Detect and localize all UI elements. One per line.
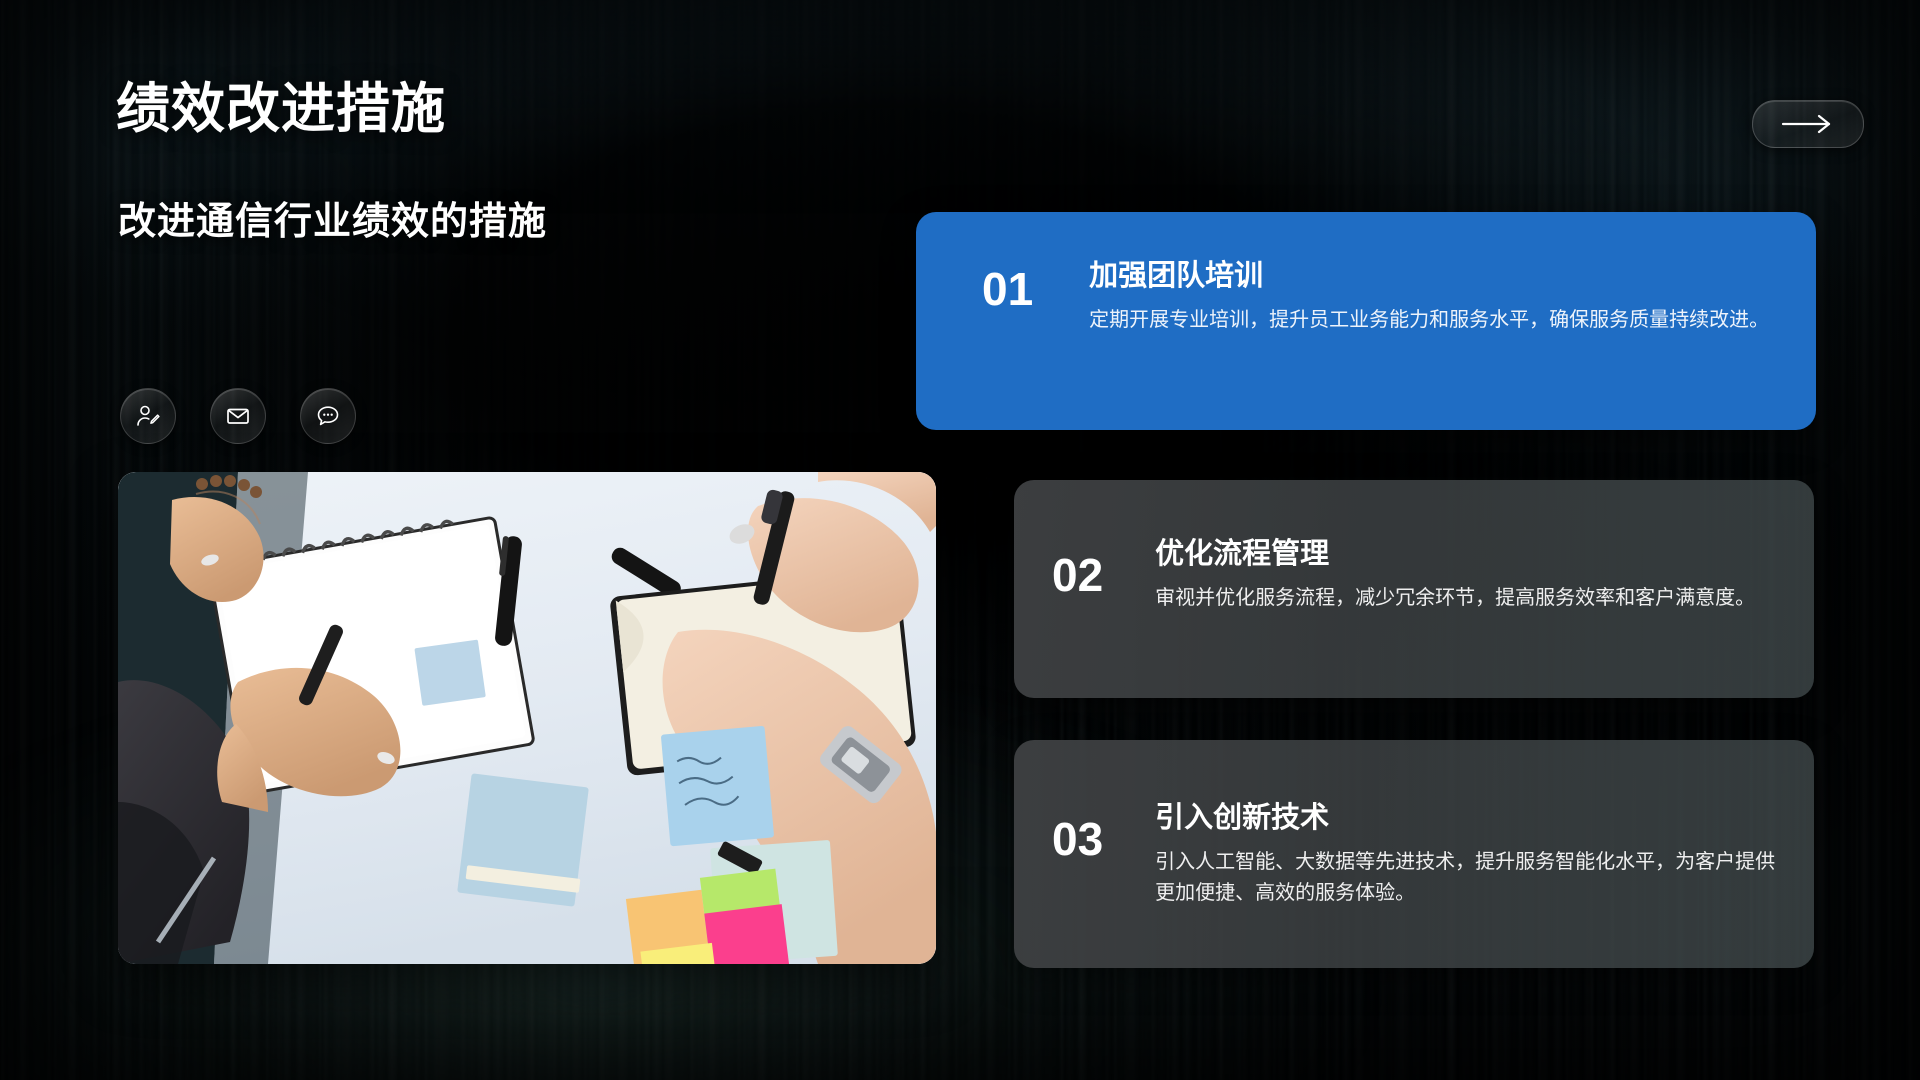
card-number: 02 (1052, 552, 1103, 598)
mail-icon-button[interactable] (210, 388, 266, 444)
card-number: 03 (1052, 816, 1103, 862)
social-icon-row (120, 388, 356, 444)
user-edit-icon (134, 402, 162, 430)
arrow-right-icon (1781, 114, 1835, 134)
photo-illustration (118, 472, 936, 964)
card-description: 审视并优化服务流程，减少冗余环节，提高服务效率和客户满意度。 (1155, 583, 1778, 614)
card-title: 引入创新技术 (1155, 802, 1784, 835)
measure-card-1[interactable]: 01 加强团队培训 定期开展专业培训，提升员工业务能力和服务水平，确保服务质量持… (916, 212, 1816, 430)
card-number: 01 (982, 266, 1033, 312)
card-description: 定期开展专业培训，提升员工业务能力和服务水平，确保服务质量持续改进。 (1089, 305, 1776, 336)
page-title: 绩效改进措施 (116, 64, 446, 143)
chat-icon-button[interactable] (300, 388, 356, 444)
card-body: 加强团队培训 定期开展专业培训，提升员工业务能力和服务水平，确保服务质量持续改进… (1089, 260, 1776, 336)
card-title: 加强团队培训 (1089, 260, 1776, 293)
team-collaboration-photo (118, 472, 936, 964)
next-slide-button[interactable] (1752, 100, 1864, 148)
mail-icon (224, 402, 252, 430)
measure-card-3[interactable]: 03 引入创新技术 引入人工智能、大数据等先进技术，提升服务智能化水平，为客户提… (1014, 740, 1814, 968)
user-edit-icon-button[interactable] (120, 388, 176, 444)
page-subtitle: 改进通信行业绩效的措施 (118, 190, 547, 245)
measure-card-2[interactable]: 02 优化流程管理 审视并优化服务流程，减少冗余环节，提高服务效率和客户满意度。 (1014, 480, 1814, 698)
chat-icon (314, 402, 342, 430)
card-body: 优化流程管理 审视并优化服务流程，减少冗余环节，提高服务效率和客户满意度。 (1155, 538, 1778, 614)
card-body: 引入创新技术 引入人工智能、大数据等先进技术，提升服务智能化水平，为客户提供更加… (1155, 802, 1784, 909)
card-title: 优化流程管理 (1155, 538, 1778, 571)
slide-root: 绩效改进措施 改进通信行业绩效的措施 (0, 0, 1920, 1080)
card-description: 引入人工智能、大数据等先进技术，提升服务智能化水平，为客户提供更加便捷、高效的服… (1155, 847, 1784, 909)
